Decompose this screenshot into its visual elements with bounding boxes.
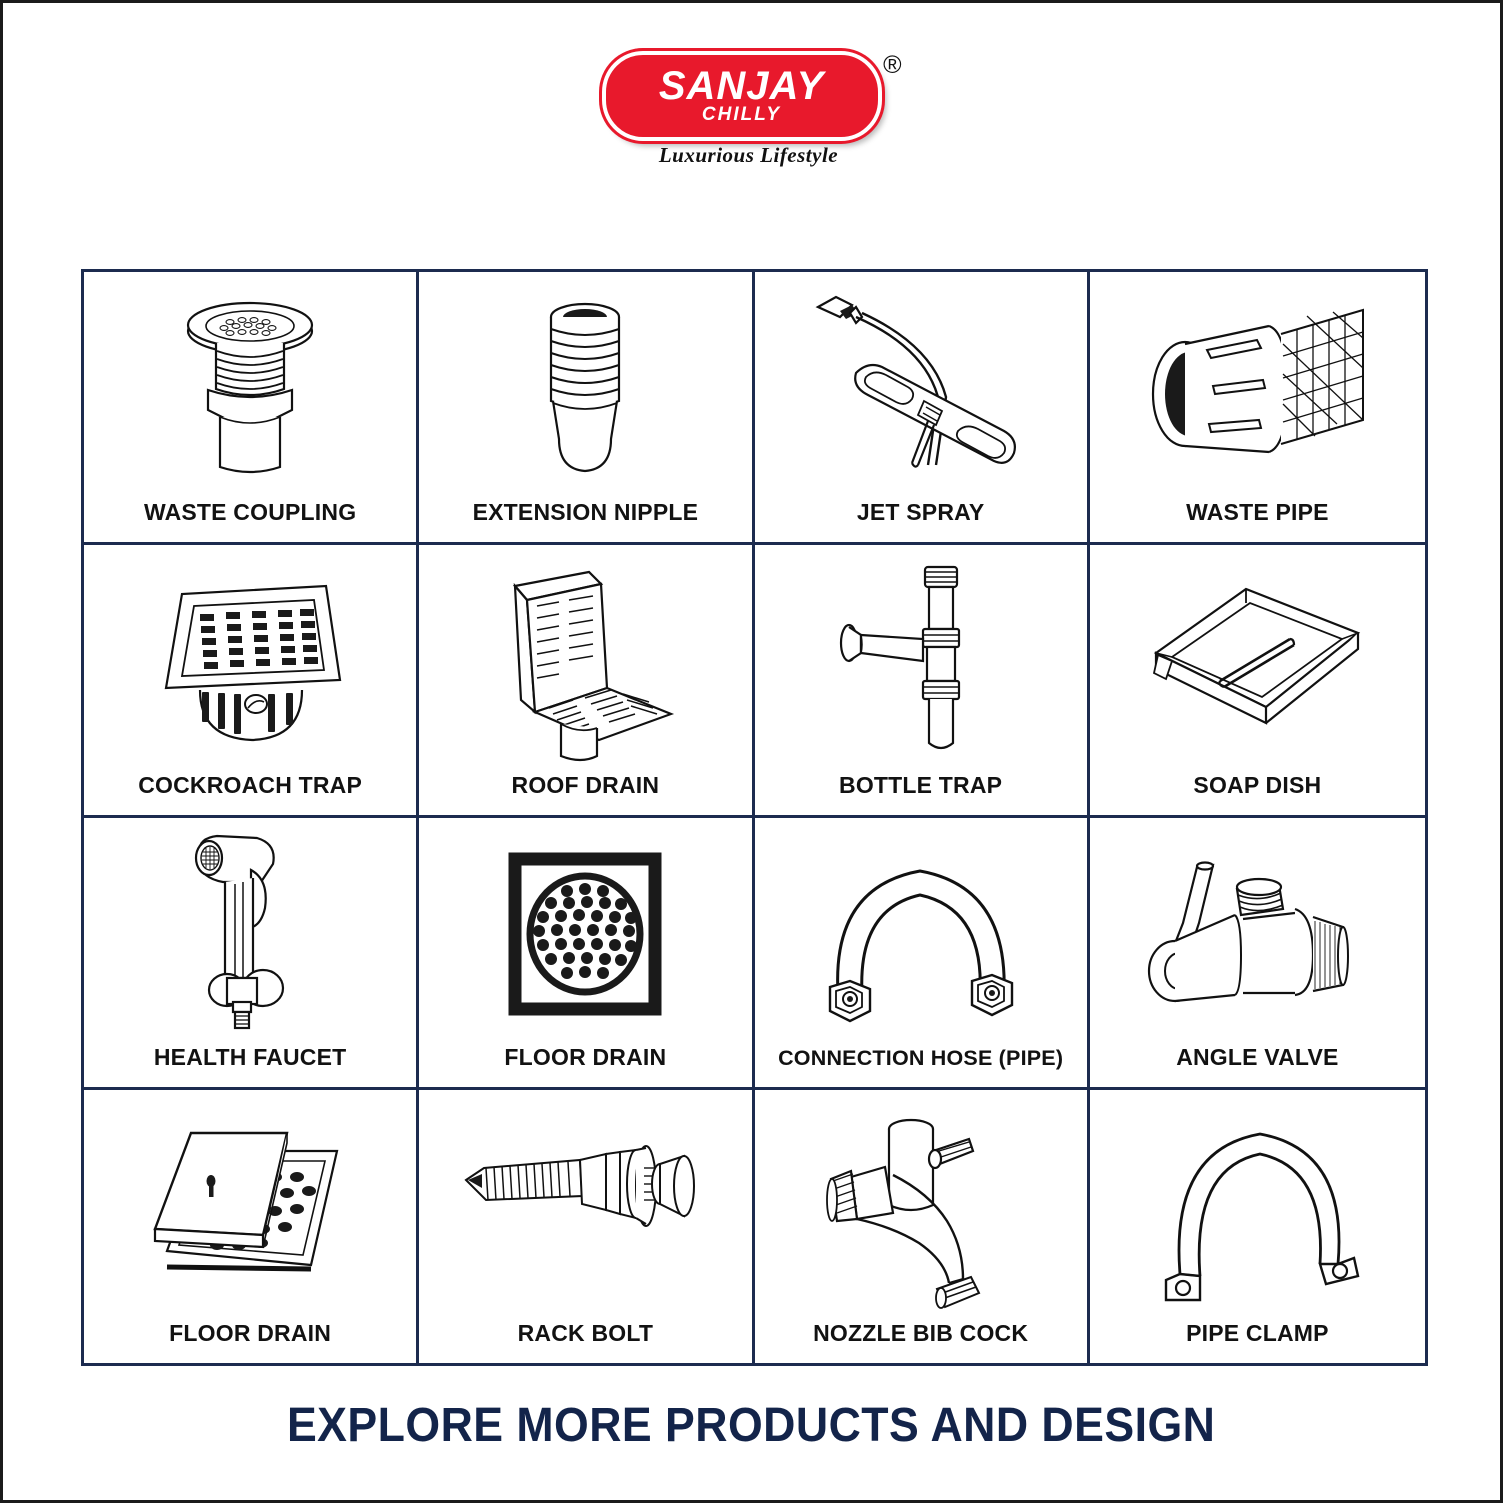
health-faucet-icon — [84, 826, 416, 1045]
waste-coupling-icon — [84, 280, 416, 499]
product-cell-cockroach-trap[interactable]: COCKROACH TRAP — [84, 545, 419, 818]
logo-brand-subname: CHILLY — [702, 105, 781, 125]
product-cell-health-faucet[interactable]: HEALTH FAUCET — [84, 818, 419, 1091]
bottle-trap-icon — [755, 553, 1087, 772]
product-label: ANGLE VALVE — [1170, 1044, 1344, 1087]
product-cell-extension-nipple[interactable]: EXTENSION NIPPLE — [419, 272, 754, 545]
product-grid: WASTE COUPLING EXTENSION NIPPLE — [81, 269, 1428, 1366]
product-label: ROOF DRAIN — [506, 772, 666, 815]
brand-logo: SANJAY CHILLY ® Luxurious Lifestyle — [602, 51, 902, 181]
rack-bolt-icon — [419, 1098, 751, 1320]
product-cell-floor-drain-square[interactable]: FLOOR DRAIN — [419, 818, 754, 1091]
product-cell-floor-drain-cover[interactable]: FLOOR DRAIN — [84, 1090, 419, 1363]
product-cell-waste-coupling[interactable]: WASTE COUPLING — [84, 272, 419, 545]
product-label: PIPE CLAMP — [1180, 1320, 1335, 1363]
product-cell-waste-pipe[interactable]: WASTE PIPE — [1090, 272, 1425, 545]
product-cell-roof-drain[interactable]: ROOF DRAIN — [419, 545, 754, 818]
soap-dish-icon — [1090, 553, 1425, 772]
product-label: RACK BOLT — [512, 1320, 660, 1363]
brand-header: SANJAY CHILLY ® Luxurious Lifestyle — [3, 3, 1500, 253]
cockroach-trap-icon — [84, 553, 416, 772]
product-label: COCKROACH TRAP — [132, 772, 368, 815]
product-label: SOAP DISH — [1187, 772, 1327, 815]
waste-pipe-icon — [1090, 280, 1425, 499]
product-label: FLOOR DRAIN — [498, 1044, 672, 1087]
product-cell-angle-valve[interactable]: ANGLE VALVE — [1090, 818, 1425, 1091]
product-label: JET SPRAY — [851, 499, 991, 542]
footer-banner: EXPLORE MORE PRODUCTS AND DESIGN — [3, 1398, 1500, 1453]
product-cell-bottle-trap[interactable]: BOTTLE TRAP — [755, 545, 1090, 818]
footer-text: EXPLORE MORE PRODUCTS AND DESIGN — [287, 1398, 1215, 1453]
logo-brand-name: SANJAY — [659, 67, 824, 106]
logo-pill-shape: SANJAY CHILLY — [602, 51, 882, 141]
floor-drain-cover-icon — [84, 1098, 416, 1320]
jet-spray-icon — [755, 280, 1087, 499]
product-label: NOZZLE BIB COCK — [807, 1320, 1034, 1363]
registered-trademark-icon: ® — [883, 53, 901, 78]
roof-drain-icon — [419, 553, 751, 772]
logo-tagline: Luxurious Lifestyle — [624, 143, 874, 168]
product-cell-soap-dish[interactable]: SOAP DISH — [1090, 545, 1425, 818]
product-cell-connection-hose[interactable]: CONNECTION HOSE (PIPE) — [755, 818, 1090, 1091]
extension-nipple-icon — [419, 280, 751, 499]
angle-valve-icon — [1090, 826, 1425, 1045]
product-cell-nozzle-bib-cock[interactable]: NOZZLE BIB COCK — [755, 1090, 1090, 1363]
floor-drain-square-icon — [419, 826, 751, 1045]
product-label: CONNECTION HOSE (PIPE) — [772, 1046, 1069, 1087]
product-cell-jet-spray[interactable]: JET SPRAY — [755, 272, 1090, 545]
product-cell-pipe-clamp[interactable]: PIPE CLAMP — [1090, 1090, 1425, 1363]
product-label: FLOOR DRAIN — [163, 1320, 337, 1363]
product-label: HEALTH FAUCET — [148, 1044, 353, 1087]
product-label: WASTE PIPE — [1180, 499, 1335, 542]
pipe-clamp-icon — [1090, 1098, 1425, 1320]
connection-hose-icon — [755, 826, 1087, 1047]
product-label: EXTENSION NIPPLE — [467, 499, 705, 542]
product-label: BOTTLE TRAP — [833, 772, 1008, 815]
nozzle-bib-cock-icon — [755, 1098, 1087, 1320]
product-cell-rack-bolt[interactable]: RACK BOLT — [419, 1090, 754, 1363]
product-label: WASTE COUPLING — [138, 499, 362, 542]
